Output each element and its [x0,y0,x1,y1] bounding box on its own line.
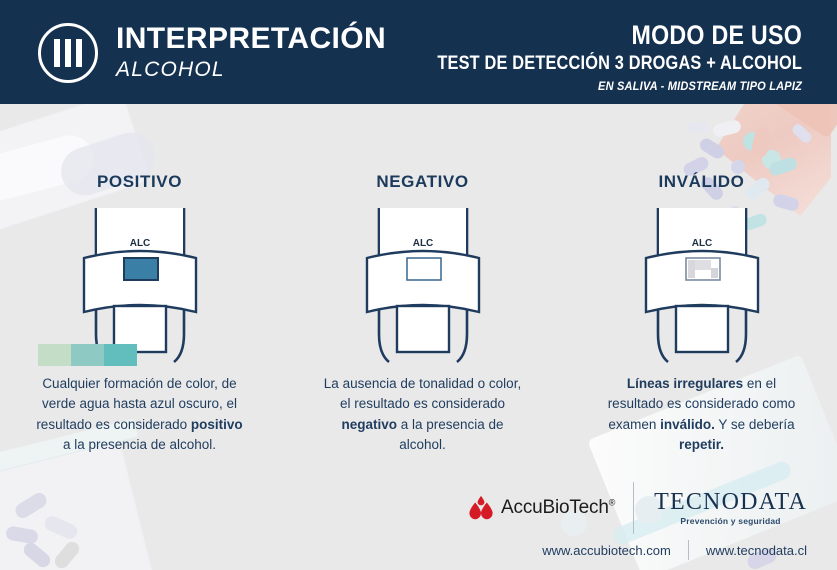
caption-keyword: positivo [191,417,243,432]
brand-divider [633,482,634,534]
tecnodata-logo: TECNODATA Prevención y seguridad [636,490,807,526]
accubiotech-url[interactable]: www.accubiotech.com [542,543,688,558]
blood-drop-icon [468,496,494,520]
header-usage-block: MODO DE USO TEST DE DETECCIÓN 3 DROGAS +… [378,22,802,93]
caption-keyword: Líneas irregulares [627,376,743,391]
poster-root: INTERPRETACIÓN ALCOHOL MODO DE USO TEST … [0,0,837,570]
poster-header: INTERPRETACIÓN ALCOHOL MODO DE USO TEST … [0,0,837,104]
color-swatch [71,344,104,366]
brand-logos: AccuBioTech® TECNODATA Prevención y segu… [468,482,807,534]
test-device-icon: ALC [323,206,523,366]
tecnodata-url[interactable]: www.tecnodata.cl [689,543,807,558]
test-device-icon: ALC [602,206,802,366]
caption-keyword: negativo [341,417,397,432]
logo-bar-icon [54,39,60,67]
page-title: INTERPRETACIÓN [116,24,386,54]
result-column-negativo: NEGATIVO ALC La ausencia de tonalidad o … [283,104,562,455]
test-device-icon: ALC [40,206,240,366]
caption-keyword: inválido. [660,417,715,432]
usage-detail: EN SALIVA - MIDSTREAM TIPO LAPIZ [412,79,802,93]
caption-keyword: repetir. [679,437,724,452]
color-swatch [104,344,137,366]
result-column-positivo: POSITIVO ALC [0,104,279,455]
device-illustration-positivo: ALC [0,206,279,366]
accubiotech-name: AccuBioTech® [501,497,615,519]
header-brand-block: INTERPRETACIÓN ALCOHOL [38,23,386,83]
column-heading: NEGATIVO [283,172,562,192]
device-label: ALC [412,238,433,249]
result-column-invalido: INVÁLIDO ALC Líneas irregulares e [562,104,837,455]
column-heading: INVÁLIDO [562,172,837,192]
color-swatch-scale [38,344,137,366]
tecnodata-name: TECNODATA [654,490,807,514]
tecnodata-tagline: Prevención y seguridad [654,516,807,526]
column-heading: POSITIVO [0,172,279,192]
logo-bar-icon [65,39,71,67]
accubiotech-logo: AccuBioTech® [468,496,631,520]
page-subtitle: ALCOHOL [116,58,386,82]
logo-bar-icon [76,39,82,67]
header-title-group: INTERPRETACIÓN ALCOHOL [116,24,386,82]
column-caption-invalido: Líneas irregulares en el resultado es co… [562,374,837,455]
results-columns: POSITIVO ALC [0,104,837,464]
footer-urls: www.accubiotech.com www.tecnodata.cl [542,540,807,560]
color-swatch [38,344,71,366]
column-caption-negativo: La ausencia de tonalidad o color, el res… [283,374,562,455]
poster-footer: AccuBioTech® TECNODATA Prevención y segu… [0,480,837,570]
device-illustration-negativo: ALC [283,206,562,366]
device-label: ALC [129,238,150,249]
usage-subtitle: TEST DE DETECCIÓN 3 DROGAS + ALCOHOL [437,53,802,74]
usage-title: MODO DE USO [437,22,802,50]
device-illustration-invalido: ALC [562,206,837,366]
device-label: ALC [691,238,712,249]
registered-mark: ® [609,498,615,508]
column-caption-positivo: Cualquier formación de color, de verde a… [0,374,279,455]
interpretation-logo-icon [38,23,98,83]
